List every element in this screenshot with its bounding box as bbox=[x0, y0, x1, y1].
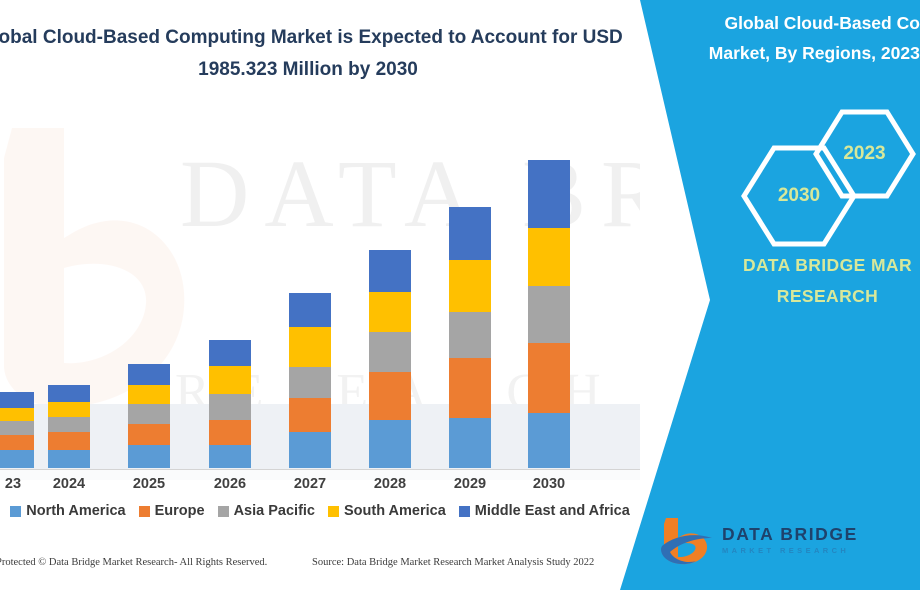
bar-segment-2026-south-america bbox=[209, 366, 251, 394]
data-bridge-logo: DATA BRIDGE MARKET RESEARCH bbox=[660, 516, 910, 568]
bar-segment-2024-middle-east-and-africa bbox=[48, 385, 90, 402]
bar-segment-2029-asia-pacific bbox=[449, 312, 491, 358]
right-panel-brand-line-1: DATA BRIDGE MAR bbox=[743, 255, 912, 275]
bar-segment-2025-europe bbox=[128, 424, 170, 445]
hexagon-badges: 2023 2030 bbox=[730, 108, 920, 223]
bar-segment-2027-south-america bbox=[289, 327, 331, 367]
chart-area: DATA BRIDGE RESEARCH lobal Cloud-Based C… bbox=[0, 0, 640, 590]
legend-item-europe[interactable]: Europe bbox=[139, 503, 205, 519]
bar-segment-2023-north-america bbox=[0, 450, 34, 468]
bar-segment-2029-middle-east-and-africa bbox=[449, 207, 491, 260]
bar-segment-2030-asia-pacific bbox=[528, 286, 570, 343]
bar-2029 bbox=[449, 207, 491, 468]
bar-segment-2025-south-america bbox=[128, 385, 170, 404]
bar-segment-2024-south-america bbox=[48, 402, 90, 417]
bar-segment-2027-middle-east-and-africa bbox=[289, 293, 331, 327]
bar-segment-2029-south-america bbox=[449, 260, 491, 312]
bar-2026 bbox=[209, 340, 251, 468]
bar-segment-2029-north-america bbox=[449, 418, 491, 468]
data-bridge-logo-text: DATA BRIDGE MARKET RESEARCH bbox=[722, 525, 858, 557]
bar-segment-2030-south-america bbox=[528, 228, 570, 286]
legend-label: Europe bbox=[155, 503, 205, 519]
hexagon-badge-2023-label: 2023 bbox=[843, 143, 885, 165]
chart-legend: North AmericaEuropeAsia PacificSouth Ame… bbox=[0, 503, 640, 519]
bar-segment-2028-asia-pacific bbox=[369, 332, 411, 372]
data-bridge-logo-icon bbox=[660, 516, 714, 566]
bar-segment-2027-asia-pacific bbox=[289, 367, 331, 398]
data-bridge-logo-subtitle: MARKET RESEARCH bbox=[722, 545, 858, 557]
legend-label: South America bbox=[344, 503, 446, 519]
bar-segment-2028-europe bbox=[369, 372, 411, 420]
right-panel-title-line-1: Global Cloud-Based Com bbox=[725, 13, 920, 33]
bar-segment-2024-europe bbox=[48, 432, 90, 450]
bar-segment-2029-europe bbox=[449, 358, 491, 418]
bar-segment-2025-asia-pacific bbox=[128, 404, 170, 424]
bar-2030 bbox=[528, 160, 570, 468]
bar-segment-2028-north-america bbox=[369, 420, 411, 468]
bar-segment-2024-north-america bbox=[48, 450, 90, 468]
legend-swatch-icon bbox=[328, 506, 339, 517]
right-panel-title-line-2: Market, By Regions, 2023 to bbox=[690, 38, 920, 68]
bar-segment-2026-north-america bbox=[209, 445, 251, 468]
bar-segment-2023-asia-pacific bbox=[0, 421, 34, 435]
right-panel-title: Global Cloud-Based Com Market, By Region… bbox=[700, 8, 920, 68]
right-panel-brand: DATA BRIDGE MAR RESEARCH bbox=[690, 250, 920, 312]
x-axis-line bbox=[0, 469, 640, 470]
x-axis-label-2023: 23 bbox=[0, 476, 43, 492]
bar-segment-2024-asia-pacific bbox=[48, 417, 90, 432]
legend-item-south-america[interactable]: South America bbox=[328, 503, 446, 519]
bar-2027 bbox=[289, 293, 331, 468]
x-axis-label-2027: 2027 bbox=[280, 476, 340, 492]
x-axis-labels: 232024202520262027202820292030 bbox=[0, 476, 640, 500]
x-axis-label-2026: 2026 bbox=[200, 476, 260, 492]
bar-segment-2023-middle-east-and-africa bbox=[0, 392, 34, 408]
x-axis-label-2030: 2030 bbox=[519, 476, 579, 492]
bar-2023 bbox=[0, 392, 34, 468]
data-bridge-logo-title: DATA BRIDGE bbox=[722, 525, 858, 544]
bar-segment-2028-south-america bbox=[369, 292, 411, 332]
bar-segment-2030-middle-east-and-africa bbox=[528, 160, 570, 228]
right-panel-brand-line-2: RESEARCH bbox=[690, 281, 920, 312]
bar-segment-2026-middle-east-and-africa bbox=[209, 340, 251, 366]
x-axis-label-2025: 2025 bbox=[119, 476, 179, 492]
stacked-bar-plot bbox=[0, 130, 640, 470]
footer-source: Source: Data Bridge Market Research Mark… bbox=[312, 557, 594, 568]
page-title: lobal Cloud-Based Computing Market is Ex… bbox=[0, 22, 628, 86]
footer: Protected © Data Bridge Market Research-… bbox=[0, 557, 640, 581]
legend-swatch-icon bbox=[10, 506, 21, 517]
x-axis-label-2029: 2029 bbox=[440, 476, 500, 492]
bar-segment-2025-north-america bbox=[128, 445, 170, 468]
bar-segment-2027-north-america bbox=[289, 432, 331, 468]
bar-segment-2030-europe bbox=[528, 343, 570, 413]
bar-segment-2026-asia-pacific bbox=[209, 394, 251, 420]
page-title-line-1: lobal Cloud-Based Computing Market is Ex… bbox=[0, 27, 623, 48]
x-axis-label-2024: 2024 bbox=[39, 476, 99, 492]
legend-item-asia-pacific[interactable]: Asia Pacific bbox=[218, 503, 315, 519]
legend-swatch-icon bbox=[459, 506, 470, 517]
bar-segment-2028-middle-east-and-africa bbox=[369, 250, 411, 292]
bar-2028 bbox=[369, 250, 411, 468]
right-panel-content: Global Cloud-Based Com Market, By Region… bbox=[600, 0, 920, 590]
hexagon-badge-2030: 2030 bbox=[740, 144, 858, 248]
bar-2024 bbox=[48, 385, 90, 468]
bar-segment-2025-middle-east-and-africa bbox=[128, 364, 170, 385]
legend-label: Asia Pacific bbox=[234, 503, 315, 519]
legend-item-north-america[interactable]: North America bbox=[10, 503, 125, 519]
footer-copyright: Protected © Data Bridge Market Research-… bbox=[0, 557, 267, 568]
hexagon-badge-2030-label: 2030 bbox=[778, 185, 820, 207]
bar-segment-2030-north-america bbox=[528, 413, 570, 468]
legend-swatch-icon bbox=[218, 506, 229, 517]
bar-segment-2023-europe bbox=[0, 435, 34, 450]
legend-label: North America bbox=[26, 503, 125, 519]
bar-segment-2026-europe bbox=[209, 420, 251, 445]
infographic-root: DATA BRIDGE RESEARCH lobal Cloud-Based C… bbox=[0, 0, 920, 590]
bar-segment-2027-europe bbox=[289, 398, 331, 432]
legend-swatch-icon bbox=[139, 506, 150, 517]
bar-segment-2023-south-america bbox=[0, 408, 34, 421]
bar-2025 bbox=[128, 364, 170, 468]
page-title-line-2: 1985.323 Million by 2030 bbox=[0, 54, 628, 86]
x-axis-label-2028: 2028 bbox=[360, 476, 420, 492]
